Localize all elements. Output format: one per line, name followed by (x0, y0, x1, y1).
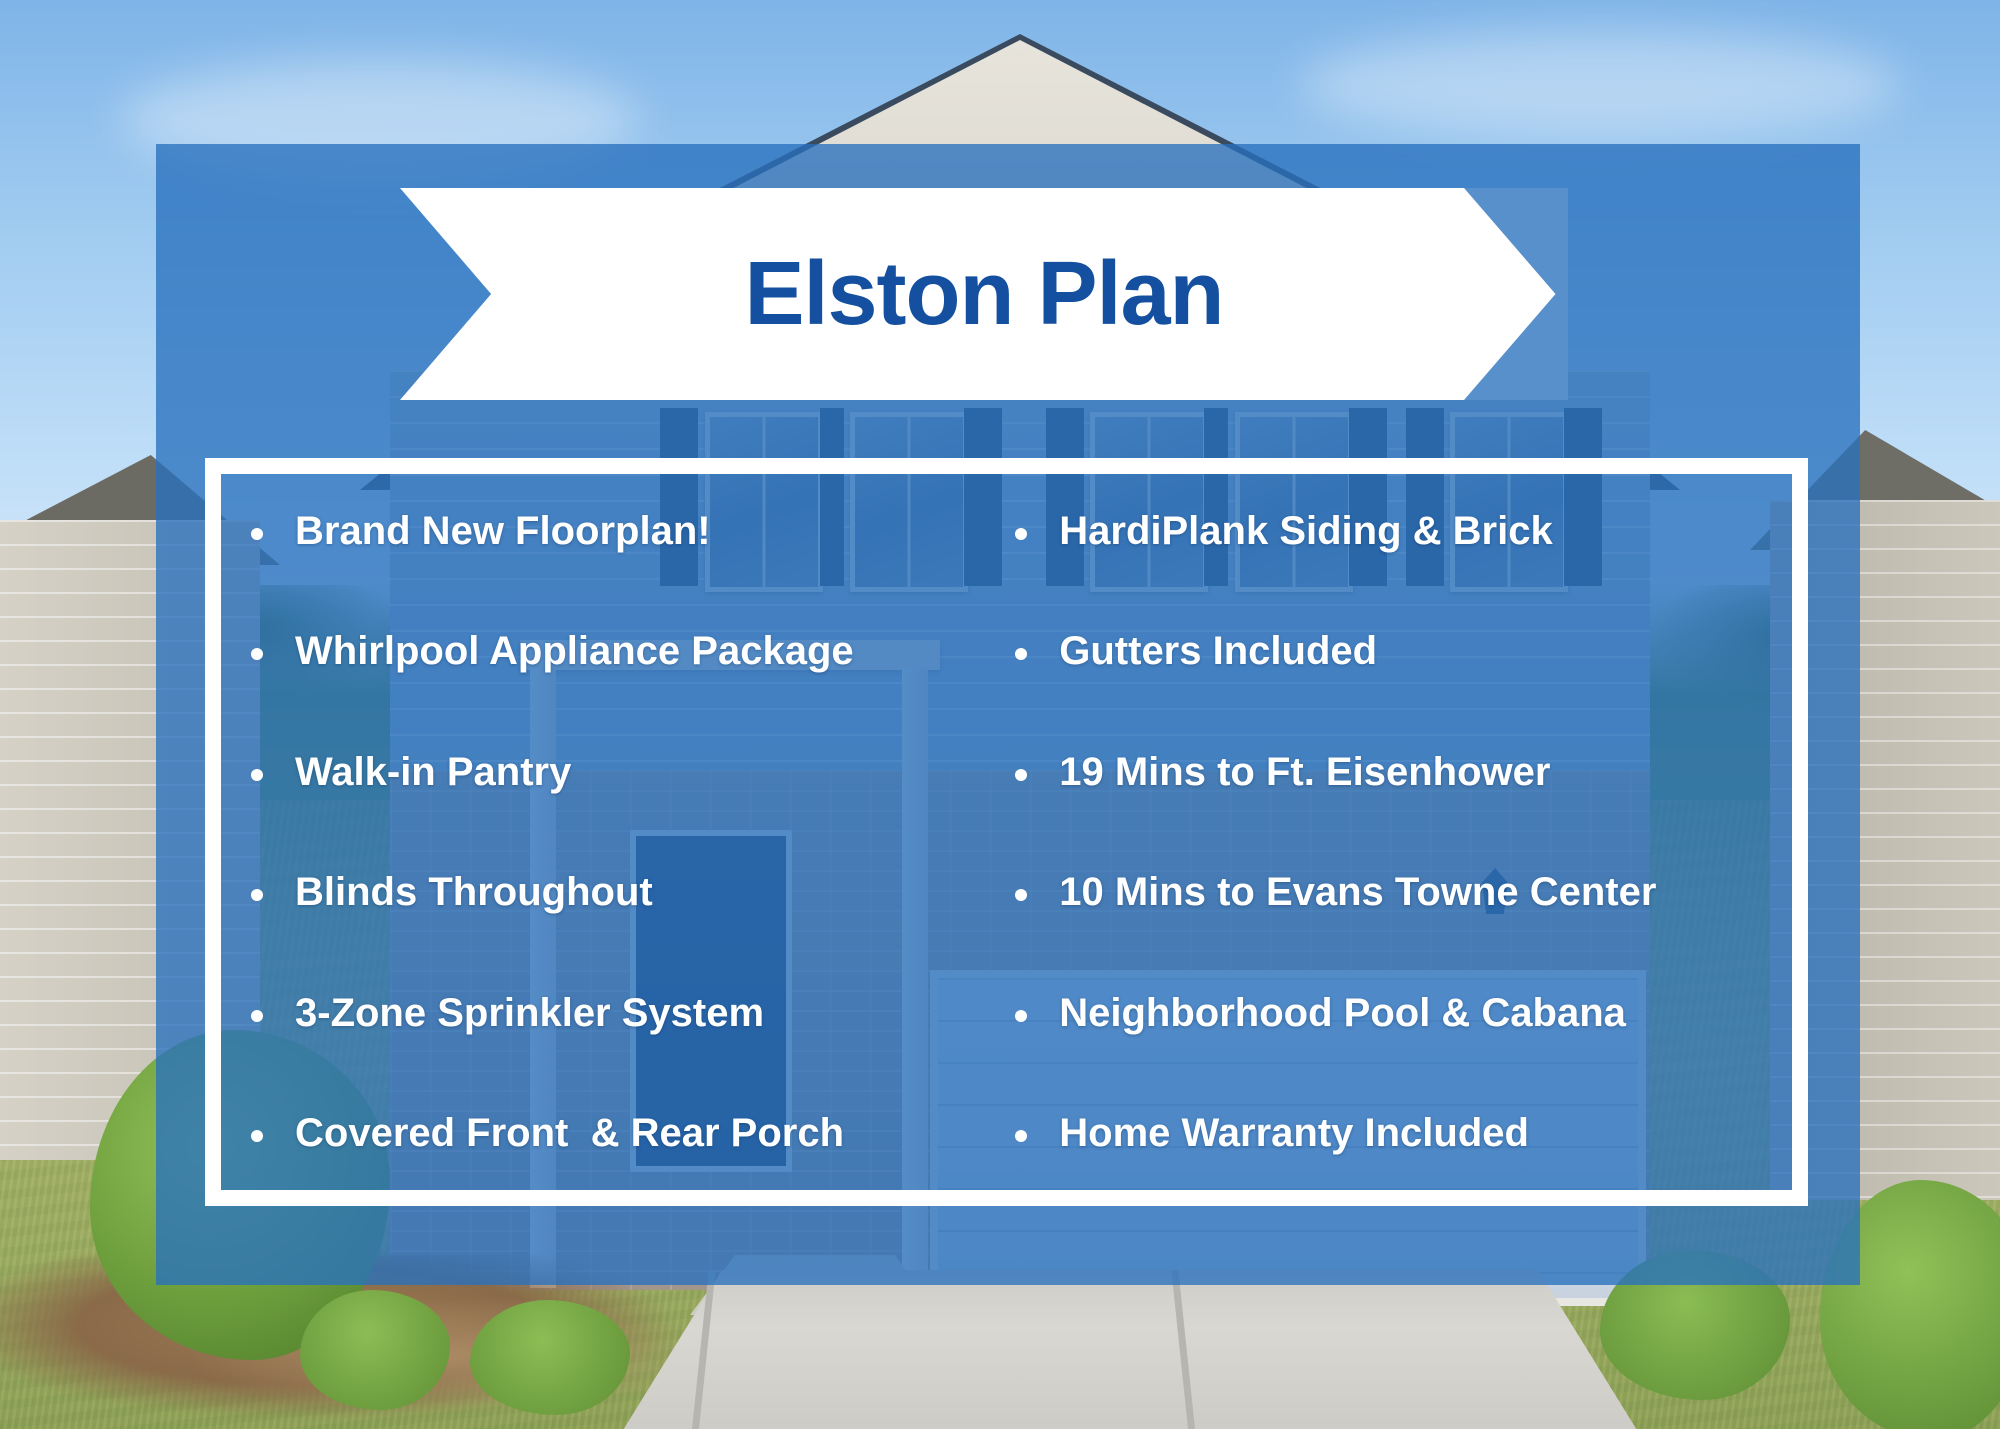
list-item-label: HardiPlank Siding & Brick (1059, 510, 1552, 552)
bullet-dot (1015, 1010, 1027, 1022)
driveway (620, 1270, 1640, 1429)
list-item: 10 Mins to Evans Towne Center (1015, 871, 1788, 913)
bullet-dot (251, 889, 263, 901)
list-item-label: 3-Zone Sprinkler System (295, 992, 764, 1034)
bullet-dot (1015, 1130, 1027, 1142)
shrub (470, 1300, 630, 1415)
list-item-label: Neighborhood Pool & Cabana (1059, 992, 1626, 1034)
list-item-label: 10 Mins to Evans Towne Center (1059, 871, 1656, 913)
list-item-label: Whirlpool Appliance Package (295, 630, 854, 672)
list-item: Covered Front & Rear Porch (251, 1112, 1005, 1154)
title-ribbon-content: Elston Plan (400, 188, 1568, 400)
list-item-label: Covered Front & Rear Porch (295, 1112, 844, 1154)
list-item: Walk-in Pantry (251, 751, 1005, 793)
list-item-label: Walk-in Pantry (295, 751, 571, 793)
shrub (300, 1290, 450, 1410)
list-item: HardiPlank Siding & Brick (1015, 510, 1788, 552)
feature-list: Brand New Floorplan! Whirlpool Appliance… (205, 458, 1808, 1206)
list-item: Brand New Floorplan! (251, 510, 1005, 552)
feature-column-right: HardiPlank Siding & Brick Gutters Includ… (1005, 510, 1788, 1154)
bullet-dot (1015, 889, 1027, 901)
list-item: Blinds Throughout (251, 871, 1005, 913)
page-title: Elston Plan (744, 249, 1223, 339)
list-item: 19 Mins to Ft. Eisenhower (1015, 751, 1788, 793)
list-item: Gutters Included (1015, 630, 1788, 672)
bullet-dot (251, 1130, 263, 1142)
list-item-label: 19 Mins to Ft. Eisenhower (1059, 751, 1550, 793)
bullet-dot (251, 528, 263, 540)
bullet-dot (1015, 528, 1027, 540)
flyer-canvas: Elston Plan Brand New Floorplan! Whirlpo… (0, 0, 2000, 1429)
list-item: 3-Zone Sprinkler System (251, 992, 1005, 1034)
feature-column-left: Brand New Floorplan! Whirlpool Appliance… (225, 510, 1005, 1154)
bullet-dot (1015, 648, 1027, 660)
list-item: Whirlpool Appliance Package (251, 630, 1005, 672)
bullet-dot (251, 769, 263, 781)
bullet-dot (251, 1010, 263, 1022)
list-item-label: Home Warranty Included (1059, 1112, 1529, 1154)
list-item-label: Gutters Included (1059, 630, 1377, 672)
list-item: Home Warranty Included (1015, 1112, 1788, 1154)
bullet-dot (1015, 769, 1027, 781)
bullet-dot (251, 648, 263, 660)
list-item-label: Brand New Floorplan! (295, 510, 711, 552)
list-item-label: Blinds Throughout (295, 871, 653, 913)
list-item: Neighborhood Pool & Cabana (1015, 992, 1788, 1034)
